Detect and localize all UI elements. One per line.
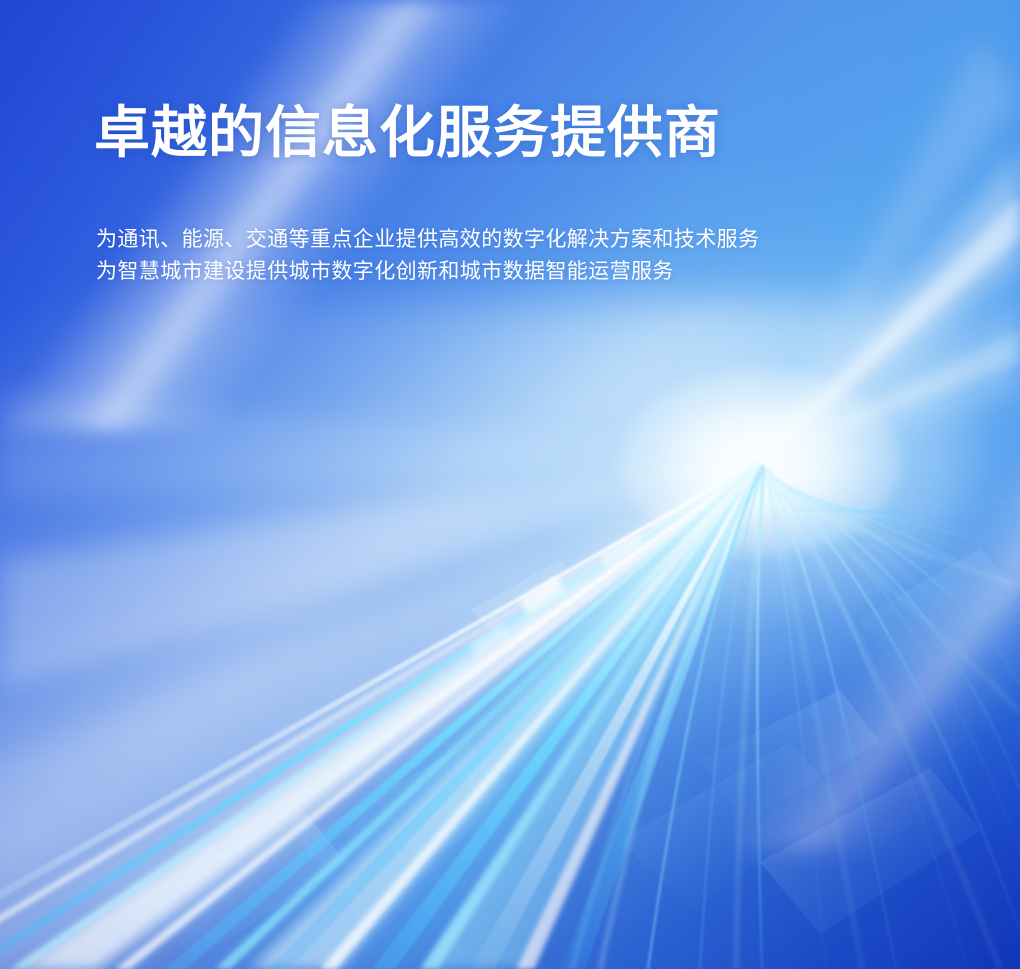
page-title: 卓越的信息化服务提供商 [94,100,759,166]
hero-copy-block: 卓越的信息化服务提供商 为通讯、能源、交通等重点企业提供高效的数字化解决方案和技… [94,100,759,288]
hero-subtitle-line-1: 为通讯、能源、交通等重点企业提供高效的数字化解决方案和技术服务 [96,224,759,256]
hero-subtitle-line-2: 为智慧城市建设提供城市数字化创新和城市数据智能运营服务 [96,256,759,288]
hero-banner: 卓越的信息化服务提供商 为通讯、能源、交通等重点企业提供高效的数字化解决方案和技… [0,0,1020,969]
hero-subtitle: 为通讯、能源、交通等重点企业提供高效的数字化解决方案和技术服务 为智慧城市建设提… [94,166,759,288]
